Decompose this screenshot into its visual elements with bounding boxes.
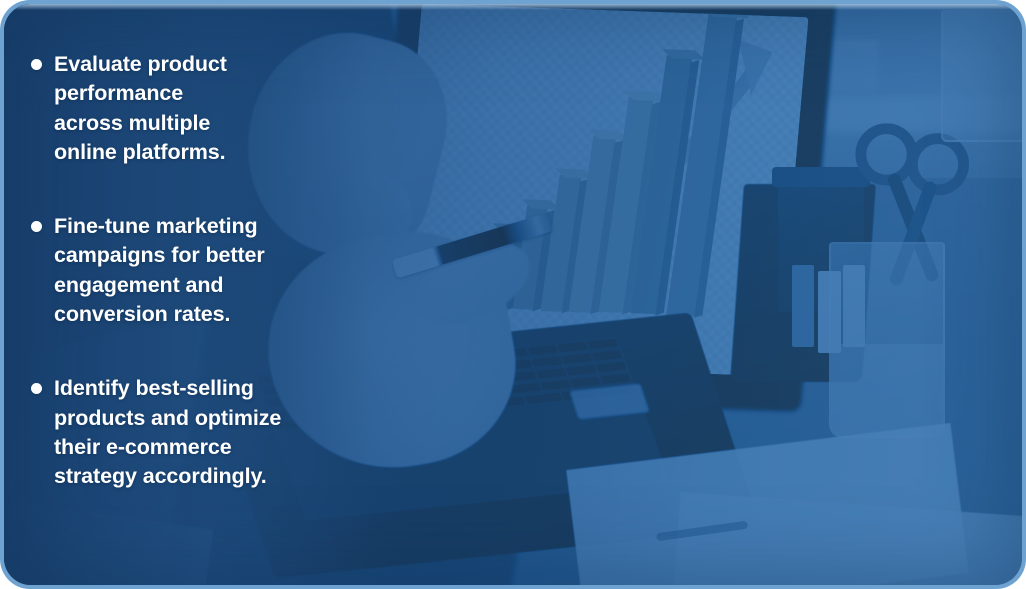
card-content: Evaluate product performance across mult… (4, 4, 1022, 585)
card-inner: Evaluate product performance across mult… (4, 4, 1022, 585)
list-item-label: Identify best-selling products and optim… (54, 374, 356, 491)
info-card: Evaluate product performance across mult… (0, 0, 1026, 589)
bullet-dot-icon (31, 221, 42, 232)
list-item-label: Evaluate product performance across mult… (54, 50, 356, 167)
bullet-dot-icon (31, 59, 42, 70)
list-item: Evaluate product performance across mult… (26, 50, 356, 167)
list-item-label: Fine-tune marketing campaigns for better… (54, 212, 356, 329)
list-item: Identify best-selling products and optim… (26, 374, 356, 491)
bullet-dot-icon (31, 383, 42, 394)
bullet-list: Evaluate product performance across mult… (26, 50, 356, 492)
list-item: Fine-tune marketing campaigns for better… (26, 212, 356, 329)
